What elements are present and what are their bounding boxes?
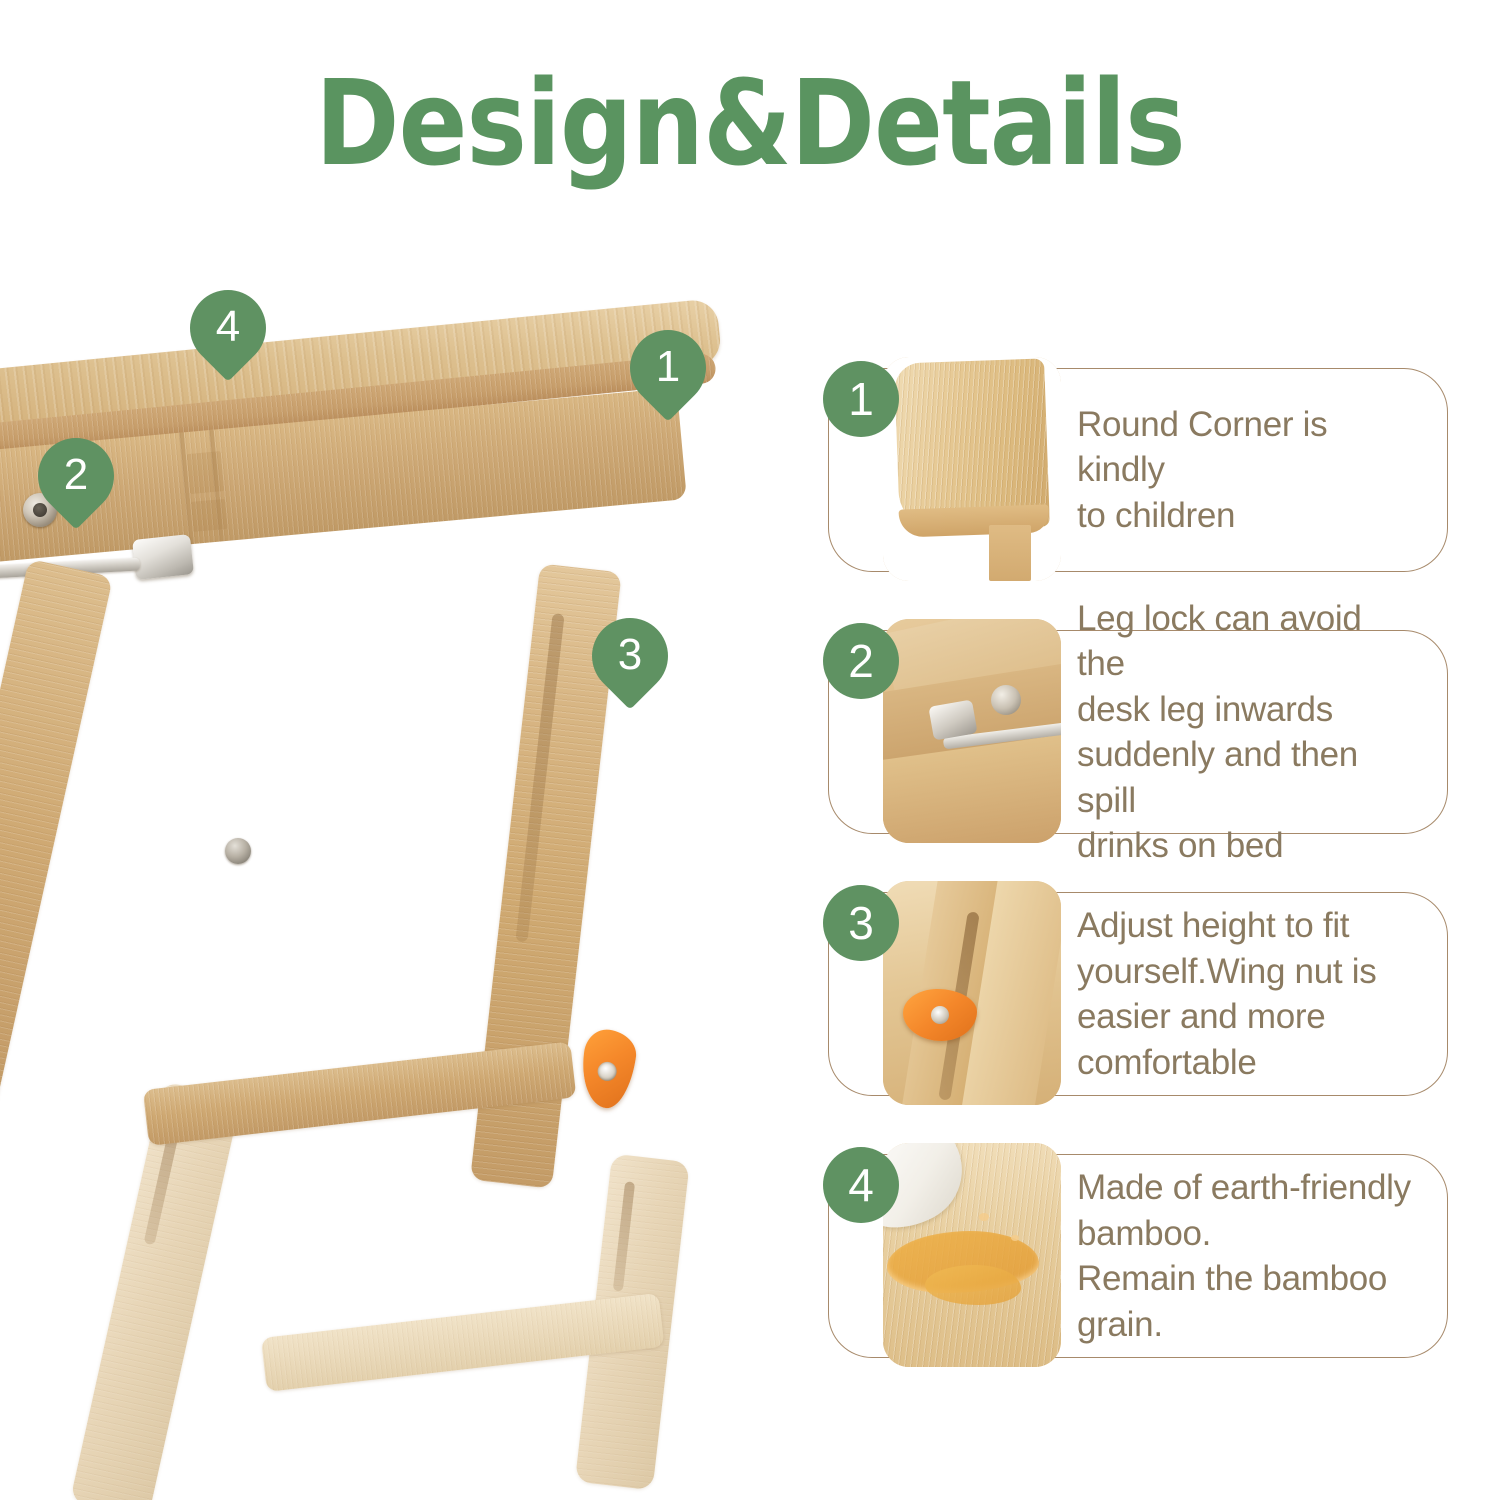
round-corner-thumbnail xyxy=(883,357,1061,581)
feature-card-1-badge: 1 xyxy=(823,361,899,437)
feature-card-list: 1 Round Corner is kindly to children 2 xyxy=(828,368,1468,1416)
pivot-screw-mid xyxy=(225,838,251,864)
feature-card-3-line-2: yourself.Wing nut is xyxy=(1077,949,1413,995)
wing-nut xyxy=(577,1027,639,1111)
wing-nut-thumbnail xyxy=(883,881,1061,1105)
marker-pin-2: 2 xyxy=(38,438,114,536)
feature-card-3-text: Adjust height to fit yourself.Wing nut i… xyxy=(1077,893,1413,1095)
feature-card-4-line-2: bamboo. xyxy=(1077,1211,1413,1257)
page-title: Design&Details xyxy=(105,62,1395,186)
feature-card-4-line-1: Made of earth-friendly xyxy=(1077,1165,1413,1211)
feature-card-2-line-2: desk leg inwards xyxy=(1077,687,1413,733)
marker-pin-1-number: 1 xyxy=(630,330,706,404)
marker-pin-2-number: 2 xyxy=(38,438,114,512)
feature-card-1-line-2: to children xyxy=(1077,493,1413,539)
feature-card-3-line-4: comfortable xyxy=(1077,1040,1413,1086)
feature-card-3-badge: 3 xyxy=(823,885,899,961)
feature-card-2-line-4: drinks on bed xyxy=(1077,823,1413,869)
product-photo: 4 1 2 3 xyxy=(0,330,800,1400)
leg-rear-left-upper xyxy=(0,559,113,1124)
marker-pin-4-number: 4 xyxy=(190,290,266,364)
feature-card-2-text: Leg lock can avoid the desk leg inwards … xyxy=(1077,631,1413,833)
feature-card-1[interactable]: 1 Round Corner is kindly to children xyxy=(828,368,1448,572)
feature-card-3-line-1: Adjust height to fit xyxy=(1077,903,1413,949)
feature-card-2-badge: 2 xyxy=(823,623,899,699)
feature-card-4-text: Made of earth-friendly bamboo. Remain th… xyxy=(1077,1155,1413,1357)
marker-pin-4: 4 xyxy=(190,290,266,388)
feature-card-2-line-3: suddenly and then spill xyxy=(1077,732,1413,823)
marker-pin-3-number: 3 xyxy=(592,618,668,692)
water-spill-thumbnail xyxy=(883,1143,1061,1367)
leg-lock-thumbnail xyxy=(883,619,1061,843)
marker-pin-1: 1 xyxy=(630,330,706,428)
feature-card-1-line-1: Round Corner is kindly xyxy=(1077,402,1413,493)
feature-card-2-line-1: Leg lock can avoid the xyxy=(1077,596,1413,687)
feature-card-4-line-3: Remain the bamboo xyxy=(1077,1256,1413,1302)
feature-card-3-line-3: easier and more xyxy=(1077,994,1413,1040)
marker-pin-3: 3 xyxy=(592,618,668,716)
infographic-page: Design&Details xyxy=(0,0,1500,1500)
feature-card-4-line-4: grain. xyxy=(1077,1302,1413,1348)
leg-lock-bracket xyxy=(132,534,194,580)
feature-card-1-text: Round Corner is kindly to children xyxy=(1077,369,1413,571)
feature-card-4[interactable]: 4 Made of earth-friendly bamboo. Remain … xyxy=(828,1154,1448,1358)
feature-card-2[interactable]: 2 Leg lock can avoid the desk leg inward… xyxy=(828,630,1448,834)
feature-card-4-badge: 4 xyxy=(823,1147,899,1223)
feature-card-3[interactable]: 3 Adjust height to fit yourself.Wing nut… xyxy=(828,892,1448,1096)
